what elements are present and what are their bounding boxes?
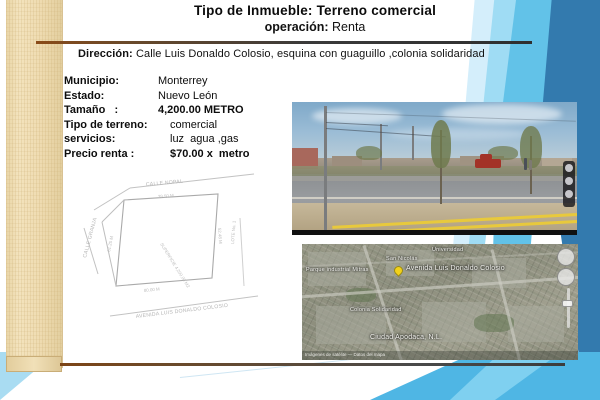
address-line: Dirección: Calle Luis Donaldo Colosio, e… <box>78 48 485 60</box>
photo-bush <box>488 146 518 160</box>
map-label: San Nicolás <box>386 256 418 262</box>
photo-tree <box>431 120 451 168</box>
map-zoom-slider-track[interactable] <box>567 288 570 328</box>
photo-lane-marking <box>292 197 577 199</box>
photo-utility-pole <box>412 126 414 160</box>
detail-key: Estado: <box>64 89 158 104</box>
map-attribution-text: Imágenes de satélite — Datos del mapa <box>305 352 385 357</box>
photo-bush <box>356 146 382 160</box>
street-view-photo[interactable] <box>292 102 577 230</box>
photo-red-truck-cab <box>480 154 492 160</box>
sketch-label-street-left: CALLE GRANJA <box>82 217 99 259</box>
header-divider-rule <box>36 41 532 44</box>
sketch-label-avenue: AVENIDA LUIS DONALDO COLOSIO <box>136 303 229 320</box>
detail-key: Municipio: <box>64 74 158 89</box>
detail-row: servicios: luz agua ,gas <box>64 132 250 147</box>
sketch-dim-left: 61.25 M <box>106 235 114 252</box>
map-pegman-icon[interactable] <box>557 268 575 286</box>
map-zoom-slider-knob[interactable] <box>562 300 573 307</box>
sketch-dim-right: 52.48 M <box>217 228 223 245</box>
footer-divider-rule <box>60 363 565 366</box>
map-compass-icon[interactable] <box>557 248 575 266</box>
detail-value: Nuevo León <box>158 89 217 104</box>
detail-row: Estado: Nuevo León <box>64 89 250 104</box>
photo-pedestrian <box>529 160 532 170</box>
street-view-compass-icon[interactable] <box>563 161 575 207</box>
address-value: Calle Luis Donaldo Colosio, esquina con … <box>136 48 485 60</box>
lot-survey-sketch: CALLE NOPAL CALLE GRANJA AVENIDA LUIS DO… <box>72 166 272 326</box>
detail-value: 4,200.00 METRO <box>158 103 244 118</box>
map-label: Avenida Luis Donaldo Colosio <box>406 265 505 272</box>
beige-side-panel <box>6 0 63 368</box>
address-label: Dirección: <box>78 48 133 60</box>
photo-pedestrian <box>524 158 527 170</box>
page-title: Tipo de Inmueble: Terreno comercial oper… <box>150 3 480 35</box>
property-details-list: Municipio: Monterrey Estado: Nuevo León … <box>64 74 250 161</box>
sketch-dim-top: 39.50 M <box>158 193 175 199</box>
title-property-type: Tipo de Inmueble: Terreno comercial <box>150 3 480 19</box>
detail-key: servicios: <box>64 132 170 147</box>
photo-bottom-bar <box>292 230 577 235</box>
detail-row: Tamaño : 4,200.00 METRO <box>64 103 250 118</box>
photo-cloud <box>442 104 562 124</box>
detail-value: $70.00 x metro <box>170 147 250 162</box>
detail-key: Precio renta : <box>64 147 170 162</box>
operation-label: operación: <box>265 20 329 34</box>
title-operation: operación: Renta <box>150 19 480 35</box>
sketch-label-street-top: CALLE NOPAL <box>146 179 184 188</box>
detail-value: comercial <box>170 118 217 133</box>
map-label: Ciudad Apodaca, N.L. <box>370 334 442 341</box>
survey-drawing: CALLE NOPAL CALLE GRANJA AVENIDA LUIS DO… <box>72 166 272 326</box>
sketch-lot-note: LOTE No. 1 <box>230 220 237 244</box>
map-label: Parque industrial Mitras <box>306 267 369 273</box>
detail-row: Municipio: Monterrey <box>64 74 250 89</box>
map-label: Universidad <box>432 247 463 253</box>
photo-utility-pole <box>324 106 327 230</box>
map-block <box>508 306 564 342</box>
slide-canvas: Tipo de Inmueble: Terreno comercial oper… <box>0 0 600 400</box>
detail-key: Tipo de terreno: <box>64 118 170 133</box>
satellite-map[interactable]: Parque industrial Mitras San Nicolás Uni… <box>302 244 578 360</box>
sketch-dim-bottom: 80.00 M <box>144 286 161 293</box>
photo-red-truck <box>475 159 501 168</box>
beige-panel-cap <box>6 356 62 372</box>
detail-key: Tamaño : <box>64 103 158 118</box>
detail-value: luz agua ,gas <box>170 132 239 147</box>
map-label: Colonia Solidaridad <box>350 307 402 313</box>
operation-value: Renta <box>332 20 365 34</box>
map-attribution-bar: Imágenes de satélite — Datos del mapa <box>302 351 578 360</box>
detail-value: Monterrey <box>158 74 208 89</box>
detail-row: Precio renta : $70.00 x metro <box>64 147 250 162</box>
detail-row: Tipo de terreno: comercial <box>64 118 250 133</box>
